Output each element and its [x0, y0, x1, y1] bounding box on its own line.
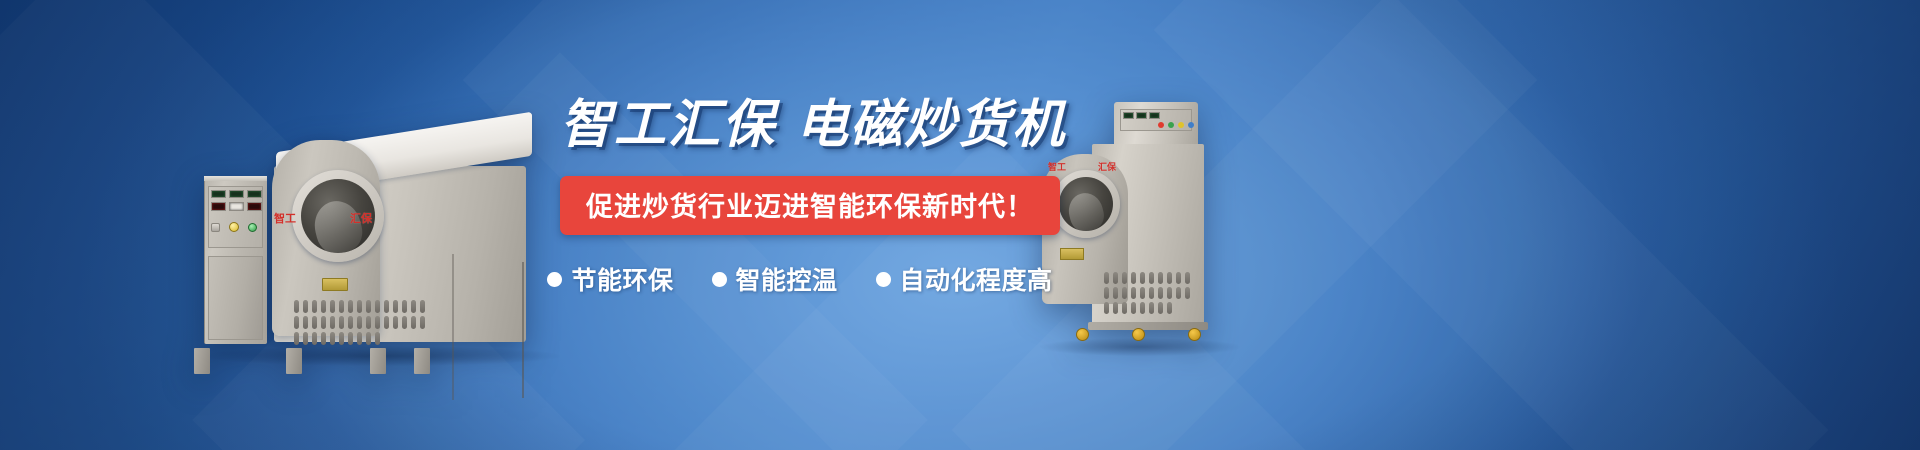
- control-button-row: [1158, 122, 1194, 128]
- machine-brand-left: 智工: [274, 210, 296, 226]
- vent-slot: [1167, 287, 1172, 299]
- vent-slot: [375, 332, 380, 345]
- feature-label: 自动化程度高: [900, 261, 1053, 297]
- machine-leg: [194, 348, 210, 374]
- feature-item-energy-saving: 节能环保: [547, 261, 673, 297]
- left-roaster-machine-image: 许昌智工 智工 汇保: [182, 104, 560, 352]
- vent-slot: [411, 316, 416, 329]
- bullet-dot-icon: [876, 272, 891, 287]
- vent-slot: [1131, 287, 1136, 299]
- headline: 智工汇保电磁炒货机: [560, 96, 1040, 154]
- machine-door-seam: [452, 254, 454, 400]
- vent-slot: [393, 300, 398, 313]
- vent-slot: [1104, 272, 1109, 284]
- vent-slot: [1122, 287, 1127, 299]
- vent-slot: [420, 300, 425, 313]
- machine-leg: [286, 348, 302, 374]
- vent-slot: [330, 300, 335, 313]
- vent-slot: [366, 332, 371, 345]
- vent-slot: [339, 332, 344, 345]
- control-knob-row: [211, 222, 257, 232]
- caster-wheel: [1188, 328, 1201, 341]
- vent-slot: [1122, 302, 1127, 314]
- stop-button-icon: [1158, 122, 1164, 128]
- vent-slot: [303, 300, 308, 313]
- machine-leg: [414, 348, 430, 374]
- alarm-indicator-icon: [1178, 122, 1184, 128]
- vent-slot: [321, 316, 326, 329]
- control-cabinet-top: [204, 176, 267, 181]
- vent-slot: [348, 316, 353, 329]
- vent-slot: [312, 316, 317, 329]
- machine-leg: [370, 348, 386, 374]
- readout-segment: [211, 202, 226, 211]
- vent-slot: [294, 316, 299, 329]
- feature-list: 节能环保 智能控温 自动化程度高: [560, 261, 1040, 297]
- digital-display-row: [211, 190, 262, 198]
- bullet-dot-icon: [712, 272, 727, 287]
- machine-brand-right: 汇保: [350, 210, 372, 226]
- vent-slot: [1149, 272, 1154, 284]
- vent-slot: [1158, 272, 1163, 284]
- vent-slot: [384, 300, 389, 313]
- feature-item-smart-temperature: 智能控温: [712, 261, 838, 297]
- vent-slot: [1122, 272, 1127, 284]
- vent-slot: [1158, 302, 1163, 314]
- caster-wheel: [1132, 328, 1145, 341]
- vent-slot: [1149, 302, 1154, 314]
- vent-slot: [348, 332, 353, 345]
- machine-brand-left: 智工: [1048, 160, 1066, 173]
- vent-slot: [384, 316, 389, 329]
- feature-label: 节能环保: [571, 261, 673, 297]
- banner-copy-block: 智工汇保电磁炒货机 促进炒货行业迈进智能环保新时代！ 节能环保 智能控温 自动化…: [560, 96, 1040, 297]
- headline-product: 电磁炒货机: [796, 95, 1066, 155]
- vent-slot: [303, 332, 308, 345]
- vent-slot: [357, 332, 362, 345]
- vent-slot: [321, 300, 326, 313]
- headline-brand: 智工汇保: [560, 95, 776, 155]
- vent-slot: [303, 316, 308, 329]
- emergency-knob-icon: [229, 222, 239, 232]
- vent-slot: [1113, 272, 1118, 284]
- vent-slot: [1113, 302, 1118, 314]
- vent-slot: [1185, 272, 1190, 284]
- feature-label: 智能控温: [736, 261, 838, 297]
- power-indicator-icon: [248, 223, 257, 232]
- vent-slot: [402, 300, 407, 313]
- vent-slot: [330, 316, 335, 329]
- vent-slot: [357, 316, 362, 329]
- selector-switch-icon: [211, 223, 220, 232]
- vent-slot: [294, 332, 299, 345]
- vent-slot: [339, 316, 344, 329]
- vent-slot: [1167, 302, 1172, 314]
- vent-slot: [1185, 287, 1190, 299]
- promo-banner: 许昌智工 智工 汇保: [0, 0, 1920, 450]
- vent-slot: [411, 300, 416, 313]
- digital-display-row: [1123, 112, 1160, 119]
- display-segment: [1149, 112, 1160, 119]
- vent-slot: [312, 300, 317, 313]
- vent-slot: [1104, 302, 1109, 314]
- drum-porthole-opening: [1059, 177, 1113, 231]
- vent-slot: [375, 316, 380, 329]
- vent-slot: [1176, 272, 1181, 284]
- display-segment: [247, 190, 262, 198]
- vent-louvers: [1104, 272, 1192, 306]
- readout-segment: [247, 202, 262, 211]
- vent-slot: [420, 316, 425, 329]
- vent-slot: [1167, 272, 1172, 284]
- display-segment: [1136, 112, 1147, 119]
- vent-slot: [348, 300, 353, 313]
- vent-slot: [1140, 287, 1145, 299]
- vent-slot: [1104, 287, 1109, 299]
- readout-segment: [229, 202, 244, 211]
- vent-louvers: [294, 300, 426, 334]
- machine-brand-right: 汇保: [1098, 160, 1116, 173]
- tagline-ribbon: 促进炒货行业迈进智能环保新时代！: [560, 176, 1060, 235]
- start-button-icon: [1168, 122, 1174, 128]
- vent-slot: [1140, 272, 1145, 284]
- vent-slot: [312, 332, 317, 345]
- cabinet-door: [208, 256, 263, 340]
- digital-readout-row: [211, 202, 262, 211]
- vent-slot: [1158, 287, 1163, 299]
- bullet-dot-icon: [547, 272, 562, 287]
- vent-slot: [393, 316, 398, 329]
- vent-slot: [366, 300, 371, 313]
- vent-slot: [1113, 287, 1118, 299]
- vent-slot: [357, 300, 362, 313]
- feature-item-automation: 自动化程度高: [876, 261, 1053, 297]
- display-segment: [211, 190, 226, 198]
- machine-door-seam: [522, 262, 524, 398]
- vent-slot: [1140, 302, 1145, 314]
- vent-slot: [330, 332, 335, 345]
- machine-nameplate: [1060, 248, 1084, 260]
- vent-slot: [339, 300, 344, 313]
- vent-slot: [375, 300, 380, 313]
- mode-indicator-icon: [1188, 122, 1194, 128]
- caster-wheel: [1076, 328, 1089, 341]
- vent-slot: [366, 316, 371, 329]
- vent-slot: [1131, 302, 1136, 314]
- vent-slot: [1149, 287, 1154, 299]
- display-segment: [1123, 112, 1134, 119]
- vent-slot: [321, 332, 326, 345]
- vent-slot: [1176, 287, 1181, 299]
- vent-slot: [402, 316, 407, 329]
- vent-slot: [1131, 272, 1136, 284]
- vent-slot: [294, 300, 299, 313]
- machine-nameplate: [322, 278, 348, 291]
- display-segment: [229, 190, 244, 198]
